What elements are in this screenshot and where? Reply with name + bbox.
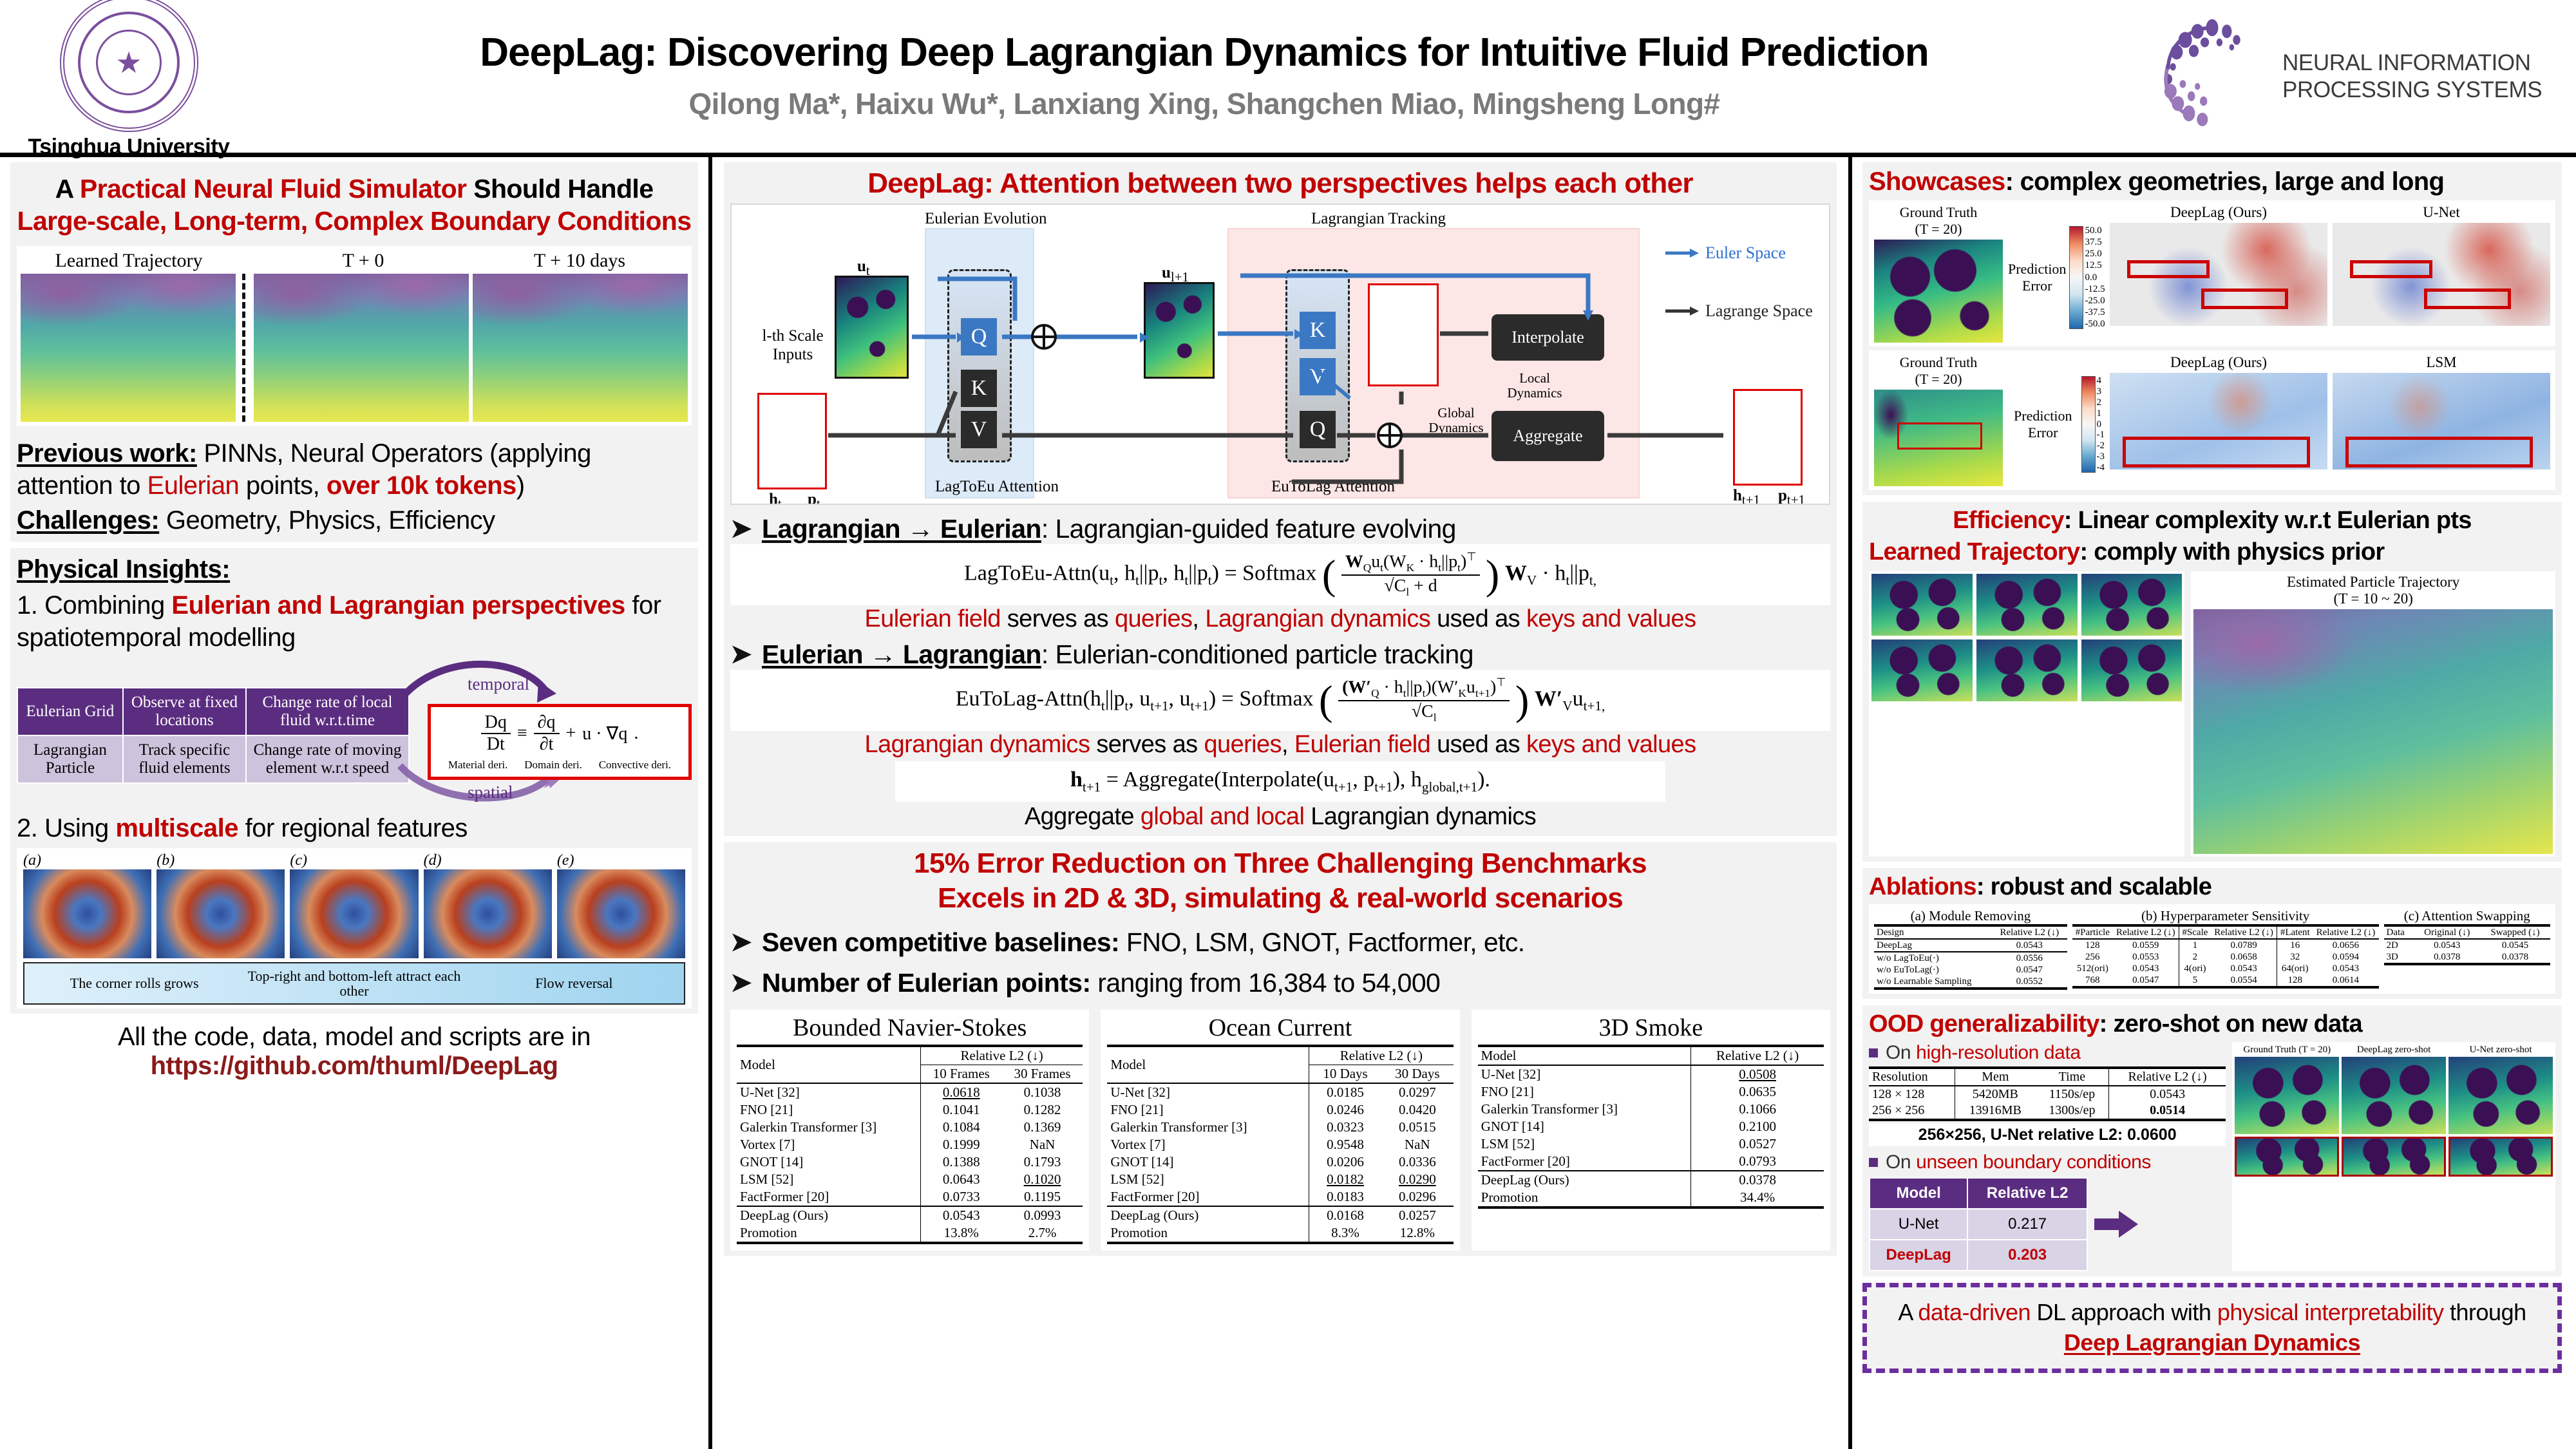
bullet-2-rest: : Eulerian-conditioned particle tracking (1041, 639, 1473, 669)
perspective-table: Eulerian Grid Observe at fixed locations… (17, 687, 410, 784)
ood-unet-note: 256×256, U-Net relative L2: 0.0600 (1869, 1124, 2226, 1146)
cap1-r4: keys and values (1526, 605, 1696, 632)
insight-2-pre: 2. Using (17, 814, 115, 842)
showcase1-gt-label: Ground Truth (1874, 204, 2003, 221)
bullet-eulerian-points: ➤ Number of Eulerian points: ranging fro… (730, 968, 1830, 998)
ood-panel-label-0: Ground Truth (T = 20) (2235, 1045, 2339, 1056)
multiscale-progress-arrow: The corner rolls grows Top-right and bot… (23, 962, 685, 1005)
table-row: LSM [52]0.0527 (1478, 1135, 1824, 1153)
previous-work-red-a: Eulerian (147, 471, 240, 500)
md-plus: + (566, 723, 576, 744)
arch-label-lagtoeu: LagToEu Attention (935, 478, 1059, 496)
ms-label-e: (e) (557, 852, 685, 869)
equation-aggregate: ht+1 = Aggregate(Interpolate(ut+1, pt+1)… (895, 761, 1665, 802)
th-model: Model (1478, 1046, 1691, 1065)
table-row: FNO [21]0.0635 (1478, 1083, 1824, 1101)
ood-heading: OOD generalizability: zero-shot on new d… (1869, 1010, 2555, 1038)
poster-columns: A Practical Neural Fluid Simulator Shoul… (0, 157, 2576, 1449)
cap2-r3: Eulerian field (1294, 731, 1430, 758)
results-title-2: Excels in 2D & 3D, simulating & real-wor… (730, 882, 1830, 914)
table-row: U-Net [32]0.01850.0297 (1107, 1084, 1453, 1101)
table-row: ModelRelative L2 (1870, 1178, 2087, 1209)
previous-work-red-b: over 10k tokens (327, 471, 516, 500)
table-row: DeepLag0.0543 (1874, 940, 2067, 952)
neurips-line1: NEURAL INFORMATION (2282, 50, 2542, 77)
showcase2-err-1: Prediction (2008, 408, 2078, 424)
qkv-block-q-eutolag: Q (1300, 411, 1336, 448)
arch-label-scale-inputs: l-th Scale Inputs (757, 327, 828, 365)
euler-arrow-icon (1665, 247, 1699, 259)
efficiency-red: Efficiency (1953, 507, 2064, 534)
results-panel: 15% Error Reduction on Three Challenging… (724, 842, 1837, 1256)
learned-traj-red: Learned Trajectory (1869, 538, 2079, 565)
cbar1-tick-4: 0.0 (2085, 273, 2105, 283)
showcase2-model-2: LSM (2333, 354, 2550, 371)
tsinghua-logo: ★ Tsinghua University (0, 0, 258, 160)
arrow-label-spatial: spatial (468, 782, 513, 802)
cap1-t3: used as (1430, 605, 1526, 632)
error-map-unet-1 (2333, 223, 2550, 326)
legend-lagrange-space: Lagrange Space (1705, 301, 1813, 321)
benchmark-title-0: Bounded Navier-Stokes (737, 1014, 1083, 1042)
tsinghua-seal-icon: ★ (60, 0, 198, 132)
arch-symbol-ht1: ht+1 (1733, 487, 1760, 505)
cbar2-tick-5: -1 (2097, 430, 2105, 440)
table-row: U-Net0.217 (1870, 1209, 2087, 1240)
vortex-image-c (290, 869, 418, 958)
table-row: FactFormer [20]0.01830.0296 (1107, 1188, 1453, 1206)
table-row: FactFormer [20]0.07330.1195 (737, 1188, 1083, 1206)
showcases-heading: Showcases: complex geometries, large and… (1869, 167, 2555, 196)
mini-field-3 (1871, 639, 1973, 701)
benchmark-table-ocean-current: Ocean Current ModelRelative L2 (↓) 10 Da… (1101, 1010, 1459, 1251)
particle-plane-top (1368, 283, 1439, 386)
table-row: Galerkin Transformer [3]0.1066 (1478, 1101, 1824, 1118)
ms-arrow-seg-2: Flow reversal (464, 976, 684, 990)
table-row: GNOT [14]0.2100 (1478, 1118, 1824, 1135)
previous-work-b: points, (239, 471, 327, 500)
showcase1-model-1: DeepLag (Ours) (2110, 204, 2327, 221)
table-row: Galerkin Transformer [3]0.10840.1369 (737, 1119, 1083, 1136)
md-eq: ≡ (517, 723, 527, 744)
author-list: Qilong Ma*, Haixu Wu*, Lanxiang Xing, Sh… (264, 86, 2145, 121)
arch-label-local-dynamics: Local Dynamics (1493, 371, 1577, 401)
cbar1-tick-6: -25.0 (2085, 296, 2105, 306)
bullet-4-rest: ranging from 16,384 to 54,000 (1091, 968, 1441, 998)
physical-insights-label: Physical Insights: (17, 555, 230, 583)
learned-traj-heading: Learned Trajectory: comply with physics … (1869, 538, 2555, 566)
cbar1-tick-2: 25.0 (2085, 249, 2105, 259)
multiscale-figure: (a) (b) (c) (d) (e) The corner (17, 848, 692, 1009)
cbar2-tick-6: -2 (2097, 441, 2105, 451)
qkv-block-k-eutolag: K (1300, 312, 1336, 349)
perspective-cell: Lagrangian Particle (17, 735, 123, 783)
cbar1-tick-8: -50.0 (2085, 319, 2105, 329)
ood-panel-label-1: DeepLag zero-shot (2342, 1045, 2446, 1056)
th-sub-1: 30 Days (1381, 1065, 1454, 1083)
trajectory-images-row (21, 274, 688, 422)
table-row: Vortex [7]0.9548NaN (1107, 1136, 1453, 1153)
results-table: DesignRelative L2 (↓) DeepLag0.0543 w/o … (1874, 924, 2067, 990)
table-row: Eulerian Grid Observe at fixed locations… (17, 688, 409, 735)
ood-panel: OOD generalizability: zero-shot on new d… (1862, 1005, 2562, 1276)
benchmark-title-1: Ocean Current (1107, 1014, 1453, 1042)
column-left: A Practical Neural Fluid Simulator Shoul… (0, 157, 712, 1449)
th-group: Relative L2 (↓) (1309, 1046, 1454, 1065)
field-image-ut (835, 276, 909, 379)
bullet-baselines: ➤ Seven competitive baselines: FNO, LSM,… (730, 927, 1830, 958)
ablations-panel: Ablations: robust and scalable (a) Modul… (1862, 868, 2562, 999)
ms-label-c: (c) (290, 852, 418, 869)
previous-work-text: Previous work: PINNs, Neural Operators (… (17, 437, 692, 502)
table-row: w/o EuToLag(·)0.0547 (1874, 964, 2067, 976)
cbar1-tick-1: 37.5 (2085, 238, 2105, 247)
cap1-r3: Lagrangian dynamics (1205, 605, 1430, 632)
cbar2-tick-1: 3 (2097, 387, 2105, 397)
showcase1-model-2: U-Net (2333, 204, 2550, 221)
ood-panel-label-2: U-Net zero-shot (2448, 1045, 2553, 1056)
th-sub-0: 10 Frames (920, 1065, 1001, 1083)
trajectory-captions-row: Learned Trajectory T + 0 T + 10 days (21, 250, 688, 272)
ood-rest: : zero-shot on new data (2099, 1010, 2362, 1037)
ood-b2-red: unseen boundary conditions (1916, 1151, 2151, 1173)
results-table: DataOriginal (↓)Swapped (↓) 2D0.05430.05… (2384, 924, 2551, 965)
cap2-r1: Lagrangian dynamics (865, 731, 1090, 758)
cbar2-tick-3: 1 (2097, 409, 2105, 419)
estimated-trajectory-figure: Estimated Particle Trajectory (T = 10 ~ … (2191, 571, 2555, 857)
concl-p1: A (1898, 1299, 1918, 1325)
table-row: w/o Learnable Sampling0.0552 (1874, 976, 2067, 989)
chevron-right-icon: ➤ (730, 968, 752, 998)
table-row: 256 × 25613916MB1300s/ep0.0514 (1869, 1103, 2226, 1120)
table-row: GNOT [14]0.13880.1793 (737, 1153, 1083, 1171)
traj-caption-2: T + 10 days (534, 250, 625, 272)
efficiency-rest: : Linear complexity w.r.t Eulerian pts (2064, 507, 2472, 534)
cap1-r1: Eulerian field (865, 605, 1001, 632)
th-group: Relative L2 (↓) (920, 1046, 1083, 1065)
multiscale-labels: (a) (b) (c) (d) (e) (23, 852, 685, 869)
physical-insights-panel: Physical Insights: 1. Combining Eulerian… (10, 548, 698, 1014)
ood-resolution-table: ResolutionMemTimeRelative L2 (↓) 128 × 1… (1869, 1066, 2226, 1121)
neurips-line2: PROCESSING SYSTEMS (2282, 77, 2542, 104)
cap3-post: Lagrangian dynamics (1304, 803, 1536, 830)
legend-euler-space: Euler Space (1705, 243, 1786, 263)
ablation-b: (b) Hyperparameter Sensitivity #Particle… (2072, 908, 2379, 990)
table-row: 512(ori)0.05434(ori)0.054364(ori)0.0543 (2072, 963, 2379, 974)
arrow-label-temporal: temporal (468, 674, 529, 694)
showcases-panel: Showcases: complex geometries, large and… (1862, 162, 2562, 495)
colorbar-1 (2069, 226, 2083, 329)
header-center: DeepLag: Discovering Deep Lagrangian Dyn… (258, 32, 2151, 121)
code-repo-link[interactable]: https://github.com/thuml/DeepLag (10, 1052, 698, 1081)
vortex-image-d (424, 869, 552, 958)
md-under-lhs: Material deri. (448, 759, 508, 772)
showcase1-gt-sub: (T = 20) (1874, 221, 2003, 238)
university-name: Tsinghua University (28, 135, 230, 160)
neurips-wordmark: NEURAL INFORMATION PROCESSING SYSTEMS (2282, 50, 2542, 104)
table-row: Lagrangian Particle Track specific fluid… (17, 735, 409, 783)
challenges-value: Geometry, Physics, Efficiency (159, 506, 495, 535)
traj-fig-title-2: (T = 10 ~ 20) (2193, 591, 2553, 607)
particle-plane-output (1733, 389, 1803, 486)
insight-1: 1. Combining Eulerian and Lagrangian per… (17, 589, 692, 654)
chevron-right-icon: ➤ (730, 514, 752, 544)
concl-r2: physical interpretability (2217, 1299, 2444, 1325)
ablation-tables: (a) Module Removing DesignRelative L2 (↓… (1869, 904, 2555, 994)
perspective-cell: Eulerian Grid (17, 688, 123, 735)
table-row: FNO [21]0.02460.0420 (1107, 1101, 1453, 1119)
arch-symbol-ut: ut (857, 258, 870, 279)
right-arrow-icon (2094, 1209, 2139, 1239)
concl-r3: Deep Lagrangian Dynamics (2064, 1329, 2360, 1356)
mini-field-5 (2081, 639, 2183, 701)
insight-2-red: multiscale (115, 814, 238, 842)
insight-2-post: for regional features (238, 814, 468, 842)
showcase1-err-2: Error (2008, 278, 2066, 294)
ood-zoom-gt (2235, 1137, 2339, 1177)
cap3-red: global and local (1141, 803, 1305, 830)
code-availability-note: All the code, data, model and scripts ar… (10, 1023, 698, 1052)
cbar2-tick-8: -4 (2097, 463, 2105, 473)
interpolate-block: Interpolate (1492, 314, 1604, 361)
md-lhs-num: Dq (481, 712, 511, 734)
perspective-diagram: Eulerian Grid Observe at fixed locations… (17, 656, 692, 811)
traj-fig-title-1: Estimated Particle Trajectory (2193, 574, 2553, 591)
table-row: FactFormer [20]0.0793 (1478, 1153, 1824, 1171)
equation-lagtoeu: LagToEu-Attn(ut, ht||pt, ht||pt) = Softm… (730, 544, 1830, 605)
table-row: LSM [52]0.06430.1020 (737, 1171, 1083, 1188)
benchmark-table-bounded-navier-stokes: Bounded Navier-Stokes ModelRelative L2 (… (730, 1010, 1089, 1251)
cap2-t1: serves as (1090, 731, 1204, 758)
lead-highlight-2: Large-scale, Long-term, Complex Boundary… (17, 206, 692, 236)
table-row: LSM [52]0.01820.0290 (1107, 1171, 1453, 1188)
aggregate-block: Aggregate (1492, 411, 1604, 461)
challenges-text: Challenges: Geometry, Physics, Efficienc… (17, 504, 692, 536)
chevron-right-icon: ➤ (730, 639, 752, 669)
ood-bullet-2: On unseen boundary conditions (1869, 1151, 2226, 1173)
ground-truth-image-1 (1874, 240, 2003, 343)
poster-root: ★ Tsinghua University DeepLag: Discoveri… (0, 0, 2576, 1449)
learned-traj-rest: : comply with physics prior (2079, 538, 2384, 565)
ms-arrow-seg-0: The corner rolls grows (24, 976, 244, 990)
results-table: ModelRelative L2 (↓) U-Net [32]0.0508 FN… (1478, 1045, 1824, 1209)
cbar1-tick-3: 12.5 (2085, 261, 2105, 270)
th-sub-0: 10 Days (1309, 1065, 1381, 1083)
bullet-eul-to-lag: ➤ Eulerian → Lagrangian: Eulerian-condit… (730, 639, 1830, 670)
arch-symbol-ht: ht (769, 491, 782, 505)
cbar1-tick-7: -37.5 (2085, 308, 2105, 317)
concl-p3: through (2444, 1299, 2526, 1325)
showcase2-gt-label: Ground Truth (1874, 354, 2003, 371)
table-row: FNO [21]0.10410.1282 (737, 1101, 1083, 1119)
arch-label-eutolag: EuToLag Attention (1271, 478, 1395, 496)
ood-b2-pre: On (1886, 1151, 1916, 1173)
cbar2-tick-2: 2 (2097, 398, 2105, 408)
ood-image-deeplag (2342, 1057, 2446, 1134)
architecture-panel: DeepLag: Attention between two perspecti… (724, 162, 1837, 836)
lead-part-1: A (55, 174, 80, 204)
th-model: Model (1107, 1046, 1309, 1083)
previous-work-label: Previous work: (17, 439, 197, 468)
arch-legend: Euler Space Lagrange Space (1665, 243, 1813, 321)
learned-trajectory-figure: Learned Trajectory T + 0 T + 10 days (17, 246, 692, 426)
bullet-2-bold: Eulerian → Lagrangian (762, 639, 1041, 669)
arch-symbol-ut1: ul+1 (1162, 264, 1189, 285)
ms-arrow-seg-1: Top-right and bottom-left attract each o… (244, 969, 464, 998)
md-under-t2: Convective deri. (599, 759, 671, 772)
page-title: DeepLag: Discovering Deep Lagrangian Dyn… (264, 32, 2145, 73)
ablations-rest: : robust and scalable (1976, 873, 2211, 900)
ood-zoom-deeplag (2342, 1137, 2446, 1177)
ood-b1-red: high-resolution data (1916, 1042, 2081, 1063)
table-row-promotion: Promotion8.3%12.8% (1107, 1224, 1453, 1243)
challenges-label: Challenges: (17, 506, 159, 535)
mini-field-2 (2081, 574, 2183, 636)
showcase-1: Ground Truth (T = 20) Prediction Error (1869, 200, 2555, 346)
cap1-r2: queries (1115, 605, 1192, 632)
fluid-field-image-t0 (254, 274, 469, 422)
square-bullet-icon (1869, 1158, 1878, 1167)
arch-symbol-pt: pt (808, 491, 820, 505)
ms-label-a: (a) (23, 852, 151, 869)
lagrange-arrow-icon (1665, 305, 1699, 317)
table-row-promotion: Promotion34.4% (1478, 1189, 1824, 1207)
insight-2: 2. Using multiscale for regional feature… (17, 812, 692, 844)
benchmark-tables-row: Bounded Navier-Stokes ModelRelative L2 (… (730, 1010, 1830, 1251)
motivation-lead: A Practical Neural Fluid Simulator Shoul… (17, 173, 692, 237)
qkv-block-v-eutolag: V (1300, 358, 1336, 395)
efficiency-heading: Efficiency: Linear complexity w.r.t Eule… (1869, 507, 2555, 535)
qkv-block-v-lagtoeu: V (961, 411, 997, 448)
table-row: 2560.055320.0658320.0594 (2072, 951, 2379, 963)
multiscale-images (23, 869, 685, 958)
mini-field-0 (1871, 574, 1973, 636)
caption-lagtoeu: Eulerian field serves as queries, Lagran… (730, 605, 1830, 633)
bullet-4-bold: Number of Eulerian points: (762, 968, 1091, 998)
md-dot: . (634, 723, 638, 744)
ablation-b-title: (b) Hyperparameter Sensitivity (2072, 908, 2379, 924)
table-row: 7680.054750.05541280.0614 (2072, 974, 2379, 987)
motivation-panel: A Practical Neural Fluid Simulator Shoul… (10, 162, 698, 542)
ood-red: OOD generalizability (1869, 1010, 2099, 1037)
ood-bullet-1: On high-resolution data (1869, 1042, 2226, 1064)
material-derivative-equation: DqDt ≡ ∂q∂t + u · ∇q . Material deri. Do… (428, 704, 692, 780)
table-row: DeepLag0.203 (1870, 1240, 2087, 1271)
benchmark-table-3d-smoke: 3D Smoke ModelRelative L2 (↓) U-Net [32]… (1472, 1010, 1830, 1251)
perspective-cell: Track specific fluid elements (123, 735, 246, 783)
fluid-field-image-t10 (473, 274, 688, 422)
architecture-diagram: Eulerian Evolution Lagrangian Tracking l… (730, 204, 1830, 505)
results-table: ModelRelative L2 (↓) 10 Frames30 Frames … (737, 1045, 1083, 1244)
results-table: ModelRelative L2 (↓) 10 Days30 Days U-Ne… (1107, 1045, 1453, 1244)
showcase2-err-2: Error (2008, 424, 2078, 441)
benchmark-title-2: 3D Smoke (1478, 1014, 1824, 1042)
arch-label-global-dynamics: Global Dynamics (1421, 406, 1492, 435)
ground-truth-image-2 (1874, 390, 2003, 486)
table-row: GNOT [14]0.02060.0336 (1107, 1153, 1453, 1171)
arch-label-eulerian-evolution: Eulerian Evolution (925, 210, 1047, 228)
chevron-right-icon: ➤ (730, 927, 752, 957)
neurips-swirl-icon (2151, 15, 2273, 138)
ablations-heading: Ablations: robust and scalable (1869, 873, 2555, 901)
cap2-r4: keys and values (1526, 731, 1696, 758)
cap2-r2: queries (1204, 731, 1282, 758)
ablation-a-title: (a) Module Removing (1874, 908, 2067, 924)
field-image-ut1 (1144, 282, 1215, 379)
particle-trajectory-image (2193, 609, 2553, 854)
divider (242, 274, 247, 422)
ms-label-d: (d) (424, 852, 552, 869)
table-row: 128 × 1285420MB1150s/ep0.0543 (1869, 1086, 2226, 1103)
md-under-t1: Domain deri. (524, 759, 582, 772)
ood-image-unet (2448, 1057, 2553, 1134)
mini-field-4 (1976, 639, 2078, 701)
table-row-ours: DeepLag (Ours)0.01680.0257 (1107, 1207, 1453, 1224)
ablations-red: Ablations (1869, 873, 1976, 900)
cbar2-tick-0: 4 (2097, 376, 2105, 386)
table-row: U-Net [32]0.06180.1038 (737, 1084, 1083, 1101)
fluid-field-image-learned (21, 274, 236, 422)
md-lhs-den: Dt (481, 734, 511, 755)
ood-b1-pre: On (1886, 1042, 1916, 1063)
cbar2-tick-4: 0 (2097, 420, 2105, 430)
table-row: 1280.055910.0789160.0656 (2072, 940, 2379, 951)
table-row: Vortex [7]0.1999NaN (737, 1136, 1083, 1153)
table-row-ours: DeepLag (Ours)0.0378 (1478, 1171, 1824, 1189)
ood-zoom-unet (2448, 1137, 2553, 1177)
showcase1-err-1: Prediction (2008, 261, 2066, 278)
lead-part-2: Should Handle (466, 174, 653, 204)
traj-caption-1: T + 0 (343, 250, 384, 272)
table-row: U-Net [32]0.0508 (1478, 1066, 1824, 1083)
ms-label-b: (b) (156, 852, 285, 869)
neurips-logo: NEURAL INFORMATION PROCESSING SYSTEMS (2151, 15, 2576, 138)
cap1-t2: , (1192, 605, 1205, 632)
vortex-image-e (557, 869, 685, 958)
error-map-deeplag-2 (2110, 373, 2327, 469)
cbar1-tick-0: 50.0 (2085, 226, 2105, 236)
results-title-1: 15% Error Reduction on Three Challenging… (730, 848, 1830, 880)
column-right: Showcases: complex geometries, large and… (1852, 157, 2572, 1449)
bullet-1-rest: : Lagrangian-guided feature evolving (1041, 514, 1456, 544)
vortex-image-a (23, 869, 151, 958)
traj-caption-0: Learned Trajectory (55, 250, 202, 272)
poster-header: ★ Tsinghua University DeepLag: Discoveri… (0, 0, 2576, 157)
table-row: 3D0.03780.0378 (2384, 951, 2551, 964)
mini-field-1 (1976, 574, 2078, 636)
ood-boundary-table: ModelRelative L2 U-Net0.217 DeepLag0.203 (1869, 1177, 2088, 1271)
particle-plane-input (757, 393, 827, 489)
cap1-t1: serves as (1001, 605, 1115, 632)
th-group: Relative L2 (↓) (1691, 1046, 1824, 1065)
ablation-c-title: (c) Attention Swapping (2384, 908, 2551, 924)
ood-image-gt (2235, 1057, 2339, 1134)
efficiency-trajectory-panel: Efficiency: Linear complexity w.r.t Eule… (1862, 502, 2562, 862)
arch-symbol-pt1: pt+1 (1778, 487, 1805, 505)
ood-figure: Ground Truth (T = 20) DeepLag zero-shot … (2232, 1042, 2555, 1271)
caption-eutolag: Lagrangian dynamics serves as queries, E… (730, 731, 1830, 759)
concl-p2: DL approach with (2031, 1299, 2217, 1325)
insight-1-pre: 1. Combining (17, 591, 171, 620)
vortex-image-b (156, 869, 285, 958)
previous-work-c: ) (516, 471, 525, 500)
qkv-block-k-lagtoeu: K (961, 370, 997, 407)
table-row-promotion: Promotion13.8%2.7% (737, 1224, 1083, 1243)
column-middle: DeepLag: Attention between two perspecti… (712, 157, 1852, 1449)
th-sub-1: 30 Frames (1002, 1065, 1083, 1083)
conclusion-box: A data-driven DL approach with physical … (1862, 1283, 2562, 1373)
showcases-rest: : complex geometries, large and long (2005, 167, 2445, 196)
